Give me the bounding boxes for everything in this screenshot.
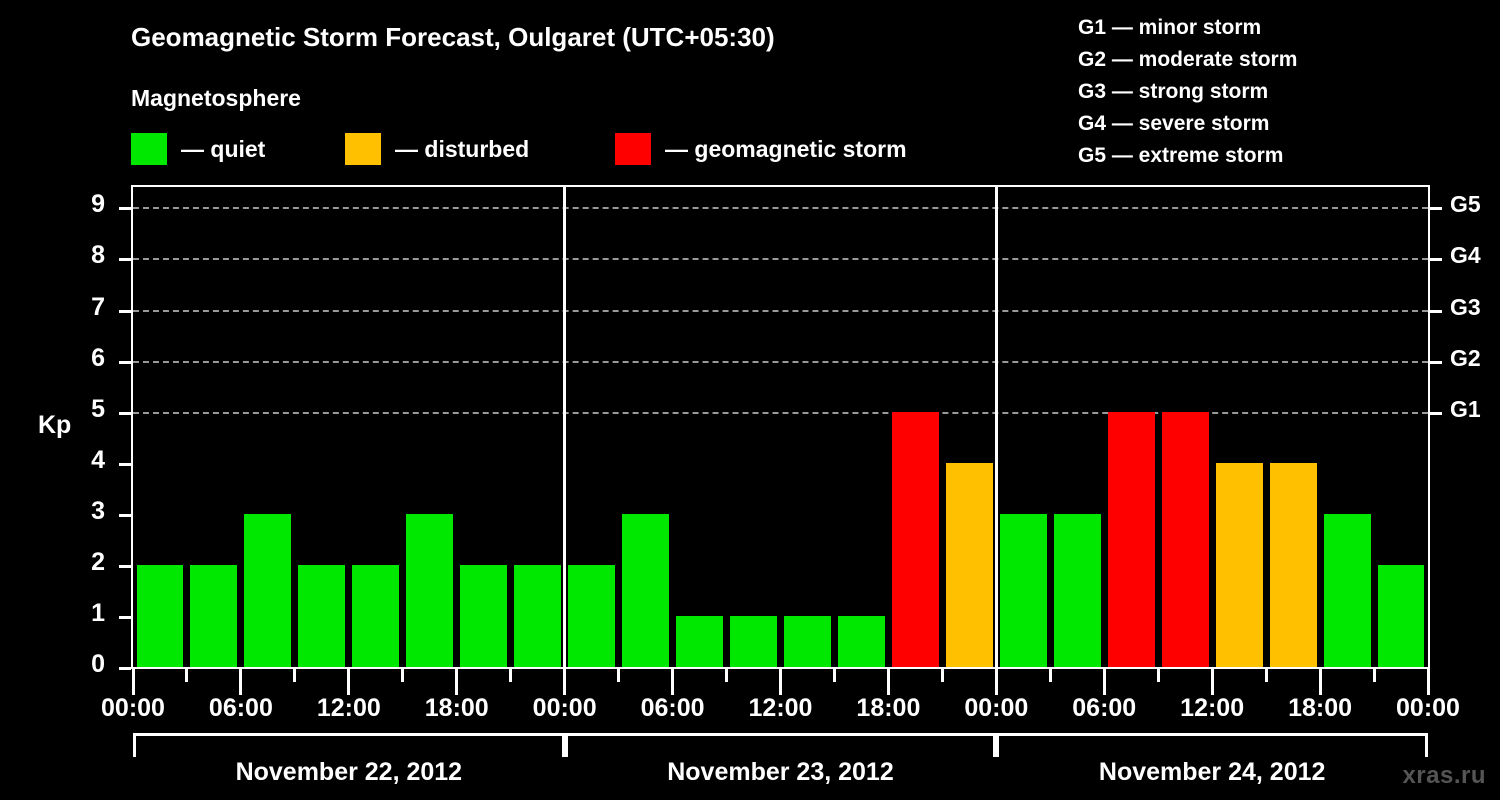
y-tick-label-8: 8 (63, 241, 105, 270)
y-tick-mark-8 (119, 258, 131, 261)
g-tick-label-G5: G5 (1450, 191, 1481, 218)
chart-page: Geomagnetic Storm Forecast, Oulgaret (UT… (0, 0, 1500, 800)
x-tick-label-7: 18:00 (828, 694, 948, 723)
x-tick-label-3: 18:00 (397, 694, 517, 723)
legend-item-label: — disturbed (395, 136, 529, 163)
x-tick-mark-2 (347, 669, 350, 695)
bar-13 (838, 616, 885, 667)
bar-19 (1162, 412, 1209, 667)
g-tick-label-G3: G3 (1450, 294, 1481, 321)
g-tick-label-G1: G1 (1450, 396, 1481, 423)
x-tick-label-9: 06:00 (1044, 694, 1164, 723)
bar-1 (190, 565, 237, 667)
x-tick-mark-12 (1427, 669, 1430, 695)
g-scale-legend: G1 — minor stormG2 — moderate stormG3 — … (1078, 12, 1297, 172)
x-tick-minor-3 (293, 669, 296, 682)
g-tick-mark-G3 (1430, 310, 1442, 313)
bar-10 (676, 616, 723, 667)
y-tick-mark-1 (119, 616, 131, 619)
g-scale-row-5: G5 — extreme storm (1078, 140, 1297, 172)
y-tick-label-6: 6 (63, 344, 105, 373)
y-tick-label-9: 9 (63, 190, 105, 219)
plot-inner (133, 187, 1428, 667)
day-separator-1 (563, 187, 566, 667)
x-tick-mark-0 (132, 669, 135, 695)
day-separator-2 (995, 187, 998, 667)
legend-swatch-icon (131, 133, 167, 165)
page-title: Geomagnetic Storm Forecast, Oulgaret (UT… (131, 22, 775, 53)
g-scale-row-1: G1 — minor storm (1078, 12, 1297, 44)
x-tick-mark-9 (1103, 669, 1106, 695)
x-tick-minor-9 (617, 669, 620, 682)
g-tick-mark-G5 (1430, 207, 1442, 210)
legend-swatch-icon (345, 133, 381, 165)
g-scale-row-3: G3 — strong storm (1078, 76, 1297, 108)
bar-23 (1378, 565, 1425, 667)
watermark: xras.ru (1402, 762, 1486, 790)
x-tick-minor-13 (833, 669, 836, 682)
legend-item-1: — disturbed (345, 133, 529, 165)
gridline-kp-7 (133, 310, 1428, 312)
y-tick-mark-5 (119, 412, 131, 415)
g-scale-row-4: G4 — severe storm (1078, 108, 1297, 140)
g-tick-mark-G1 (1430, 412, 1442, 415)
gridline-kp-5 (133, 412, 1428, 414)
legend-item-0: — quiet (131, 133, 265, 165)
y-tick-label-0: 0 (63, 650, 105, 679)
x-tick-label-11: 18:00 (1260, 694, 1380, 723)
bar-21 (1270, 463, 1317, 667)
x-tick-mark-4 (563, 669, 566, 695)
g-tick-mark-G4 (1430, 258, 1442, 261)
x-tick-label-0: 00:00 (73, 694, 193, 723)
y-tick-label-4: 4 (63, 446, 105, 475)
x-tick-mark-5 (671, 669, 674, 695)
x-tick-mark-3 (455, 669, 458, 695)
day-bracket-1 (133, 733, 565, 757)
bar-18 (1108, 412, 1155, 667)
bar-9 (622, 514, 669, 667)
bar-15 (946, 463, 993, 667)
bar-8 (568, 565, 615, 667)
y-tick-label-1: 1 (63, 599, 105, 628)
legend-swatch-icon (615, 133, 651, 165)
x-tick-minor-1 (185, 669, 188, 682)
g-tick-mark-G2 (1430, 361, 1442, 364)
g-tick-label-G4: G4 (1450, 242, 1481, 269)
y-tick-mark-0 (119, 667, 131, 670)
plot-area (131, 185, 1430, 669)
x-tick-minor-11 (725, 669, 728, 682)
bar-6 (460, 565, 507, 667)
y-tick-label-5: 5 (63, 395, 105, 424)
day-bracket-2 (565, 733, 997, 757)
y-tick-label-2: 2 (63, 548, 105, 577)
x-tick-label-4: 00:00 (505, 694, 625, 723)
legend-item-label: — quiet (181, 136, 265, 163)
bar-12 (784, 616, 831, 667)
x-tick-minor-15 (941, 669, 944, 682)
chart-subtitle: Magnetosphere (131, 85, 301, 112)
bar-0 (137, 565, 184, 667)
day-label-1: November 22, 2012 (133, 758, 565, 787)
x-tick-label-12: 00:00 (1368, 694, 1488, 723)
x-tick-mark-11 (1319, 669, 1322, 695)
bar-16 (1000, 514, 1047, 667)
bar-20 (1216, 463, 1263, 667)
bar-17 (1054, 514, 1101, 667)
bar-22 (1324, 514, 1371, 667)
x-tick-minor-21 (1265, 669, 1268, 682)
day-label-3: November 24, 2012 (996, 758, 1428, 787)
x-tick-mark-1 (239, 669, 242, 695)
gridline-kp-6 (133, 361, 1428, 363)
x-tick-minor-19 (1157, 669, 1160, 682)
x-tick-minor-23 (1373, 669, 1376, 682)
y-tick-mark-6 (119, 361, 131, 364)
x-tick-label-1: 06:00 (181, 694, 301, 723)
legend-item-label: — geomagnetic storm (665, 136, 907, 163)
y-tick-mark-3 (119, 514, 131, 517)
gridline-kp-9 (133, 207, 1428, 209)
y-tick-mark-2 (119, 565, 131, 568)
x-tick-mark-10 (1211, 669, 1214, 695)
x-tick-label-5: 06:00 (613, 694, 733, 723)
x-tick-minor-5 (401, 669, 404, 682)
x-tick-label-8: 00:00 (936, 694, 1056, 723)
bar-14 (892, 412, 939, 667)
x-tick-label-2: 12:00 (289, 694, 409, 723)
bar-3 (298, 565, 345, 667)
y-tick-label-7: 7 (63, 293, 105, 322)
x-tick-label-10: 12:00 (1152, 694, 1272, 723)
day-bracket-3 (996, 733, 1428, 757)
x-tick-minor-7 (509, 669, 512, 682)
bar-4 (352, 565, 399, 667)
bar-7 (514, 565, 561, 667)
bar-2 (244, 514, 291, 667)
legend-item-2: — geomagnetic storm (615, 133, 907, 165)
x-tick-mark-6 (779, 669, 782, 695)
gridline-kp-8 (133, 258, 1428, 260)
x-tick-mark-8 (995, 669, 998, 695)
y-tick-mark-9 (119, 207, 131, 210)
y-tick-mark-7 (119, 310, 131, 313)
y-tick-label-3: 3 (63, 497, 105, 526)
y-tick-mark-4 (119, 463, 131, 466)
day-label-2: November 23, 2012 (565, 758, 997, 787)
g-scale-row-2: G2 — moderate storm (1078, 44, 1297, 76)
bar-11 (730, 616, 777, 667)
bar-5 (406, 514, 453, 667)
x-tick-mark-7 (887, 669, 890, 695)
x-tick-minor-17 (1049, 669, 1052, 682)
x-tick-label-6: 12:00 (721, 694, 841, 723)
g-tick-label-G2: G2 (1450, 345, 1481, 372)
